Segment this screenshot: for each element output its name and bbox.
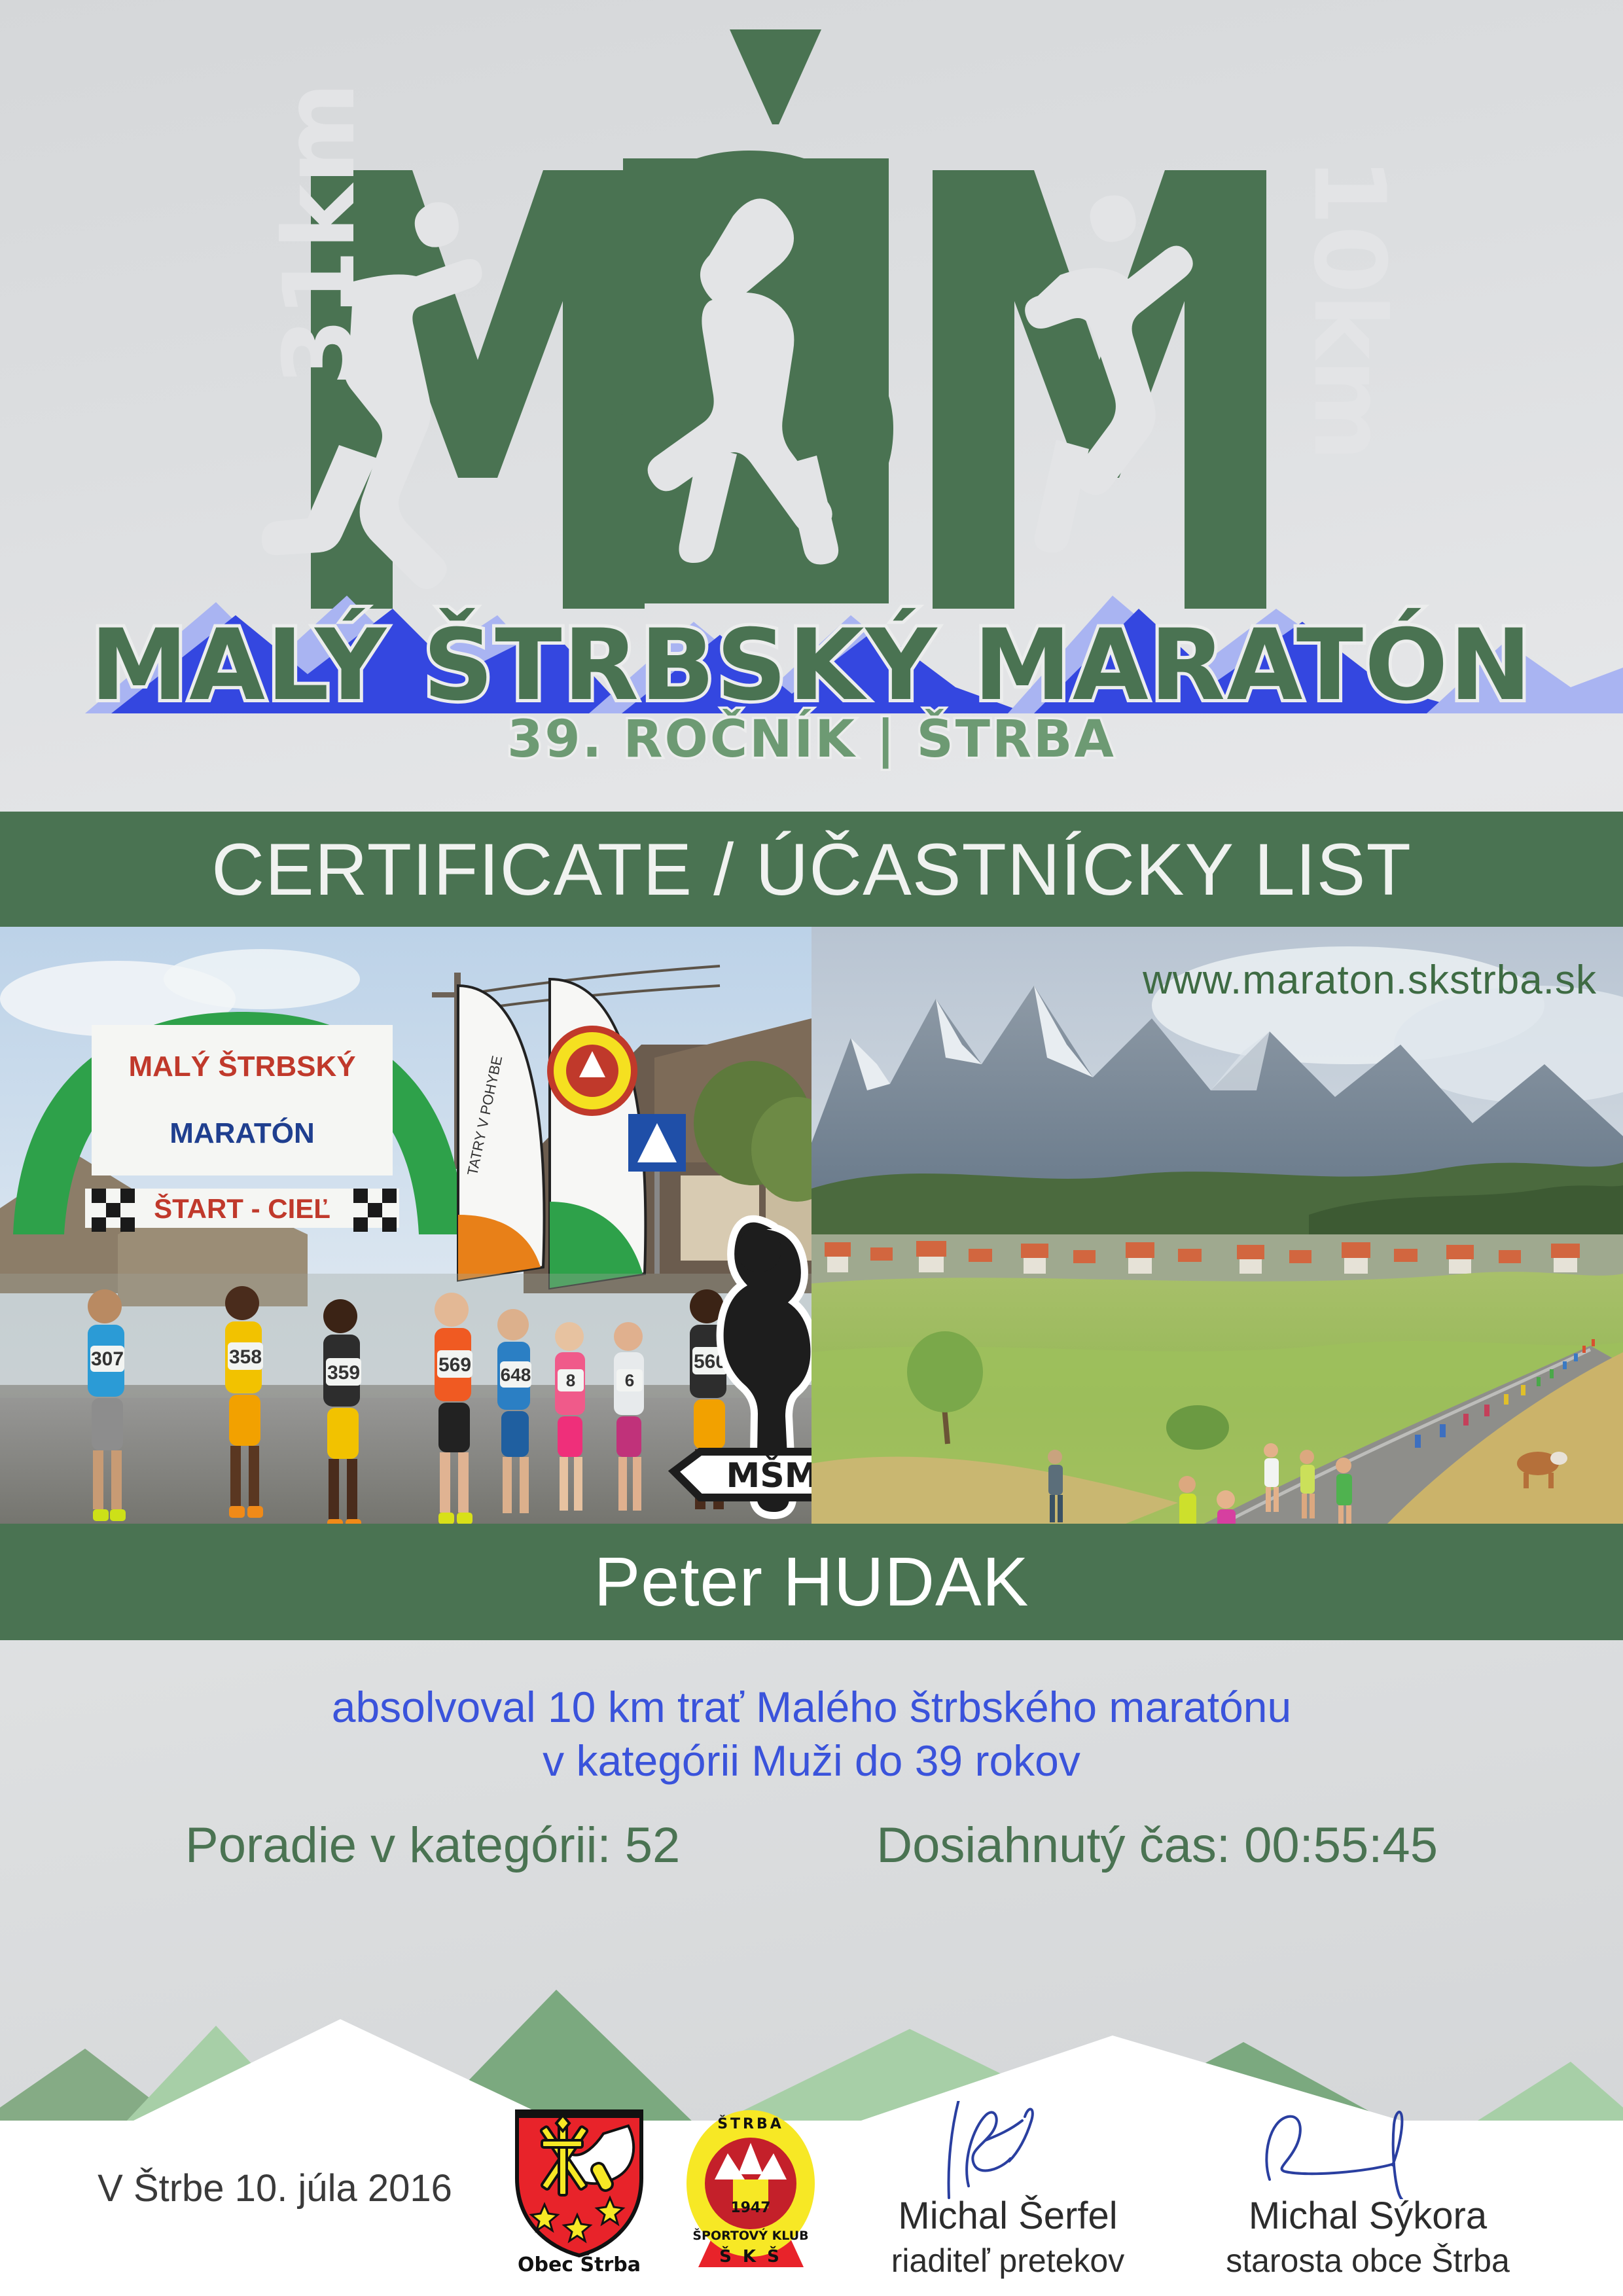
description-line-2: v kategórii Muži do 39 rokov: [0, 1734, 1623, 1788]
logo-sks-strba: ŠTRBA 1947 ŠPORTOVÝ KLUB Š K Š: [681, 2106, 821, 2273]
bib-number: 6: [625, 1371, 634, 1390]
photo-strip: MALÝ ŠTRBSKÝ MARATÓN ŠTART - CIEĽ: [0, 927, 1623, 1524]
event-subtitle: 39. ROČNÍK | ŠTRBA: [0, 710, 1623, 769]
bib-number: 648: [501, 1365, 531, 1385]
sks-year: 1947: [730, 2200, 770, 2216]
certificate-title-banner: CERTIFICATE / ÚČASTNÍCKY LIST: [0, 812, 1623, 927]
sks-bottom-text: ŠPORTOVÝ KLUB: [692, 2227, 808, 2243]
rank-value: 52: [625, 1818, 681, 1873]
participant-name-banner: Peter HUDAK: [0, 1524, 1623, 1640]
time-label: Dosiahnutý čas:: [876, 1818, 1230, 1873]
bib-number: 8: [566, 1371, 575, 1390]
distance-left-label: 31km: [263, 82, 377, 386]
time-result: Dosiahnutý čas: 00:55:45: [876, 1817, 1438, 1874]
signature-block-director: Michal Šerfel riaditeľ pretekov: [838, 2101, 1178, 2280]
signature-mark-mayor: [1230, 2101, 1505, 2199]
msm-runner-watermark: MŠM: [661, 1210, 811, 1524]
signature-mark-director: [870, 2101, 1145, 2199]
signatory-role: riaditeľ pretekov: [838, 2242, 1178, 2280]
msm-logo-svg: 31km 10km: [157, 20, 1466, 609]
bib-number: 569: [438, 1354, 471, 1376]
signatory-role: starosta obce Štrba: [1198, 2242, 1538, 2280]
watermark-text: MŠM: [726, 1455, 811, 1496]
footer-section: V Štrbe 10. júla 2016: [0, 2088, 1623, 2296]
achievement-description: absolvoval 10 km trať Malého štrbského m…: [0, 1681, 1623, 1788]
sks-abbrev: Š K Š: [719, 2246, 782, 2267]
participant-name: Peter HUDAK: [594, 1543, 1029, 1622]
header-section: 31km 10km MALÝ ŠTRBSKÝ MARATÓN 39. ROČNÍ…: [0, 0, 1623, 812]
coat-of-arms-svg: Obec Štrba: [504, 2106, 654, 2276]
sks-top-text: ŠTRBA: [717, 2115, 784, 2132]
logo-obec-caption: Obec Štrba: [518, 2252, 641, 2276]
arch-line1: MALÝ ŠTRBSKÝ: [128, 1049, 355, 1083]
description-line-1: absolvoval 10 km trať Malého štrbského m…: [0, 1681, 1623, 1734]
distance-right-label: 10km: [1292, 157, 1406, 461]
time-value: 00:55:45: [1244, 1818, 1438, 1873]
landscape-illustration: [811, 927, 1623, 1524]
certificate-title: CERTIFICATE / ÚČASTNÍCKY LIST: [211, 827, 1412, 912]
signature-block-mayor: Michal Sýkora starosta obce Štrba: [1198, 2101, 1538, 2280]
sks-logo-svg: ŠTRBA 1947 ŠPORTOVÝ KLUB Š K Š: [681, 2106, 821, 2270]
photo-course-landscape: www.maraton.skstrba.sk: [811, 927, 1623, 1524]
website-url: www.maraton.skstrba.sk: [1143, 957, 1597, 1003]
certificate-page: 31km 10km MALÝ ŠTRBSKÝ MARATÓN 39. ROČNÍ…: [0, 0, 1623, 2296]
bib-number: 358: [229, 1346, 262, 1368]
results-row: Poradie v kategórii: 52 Dosiahnutý čas: …: [0, 1817, 1623, 1874]
logo-obec-strba: Obec Štrba: [504, 2106, 654, 2280]
photo-race-start: MALÝ ŠTRBSKÝ MARATÓN ŠTART - CIEĽ: [0, 927, 811, 1524]
signatory-name: Michal Šerfel: [838, 2194, 1178, 2238]
rank-label: Poradie v kategórii:: [185, 1818, 611, 1873]
event-wordmark: MALÝ ŠTRBSKÝ MARATÓN: [0, 609, 1623, 723]
msm-logo: 31km 10km: [0, 20, 1623, 609]
arch-banner-text: ŠTART - CIEĽ: [154, 1193, 330, 1224]
arch-line2: MARATÓN: [169, 1117, 315, 1149]
issue-date: V Štrbe 10. júla 2016: [72, 2166, 478, 2210]
bib-number: 307: [91, 1348, 124, 1370]
rank-result: Poradie v kategórii: 52: [185, 1817, 680, 1874]
signatory-name: Michal Sýkora: [1198, 2194, 1538, 2238]
bib-number: 359: [327, 1362, 360, 1384]
